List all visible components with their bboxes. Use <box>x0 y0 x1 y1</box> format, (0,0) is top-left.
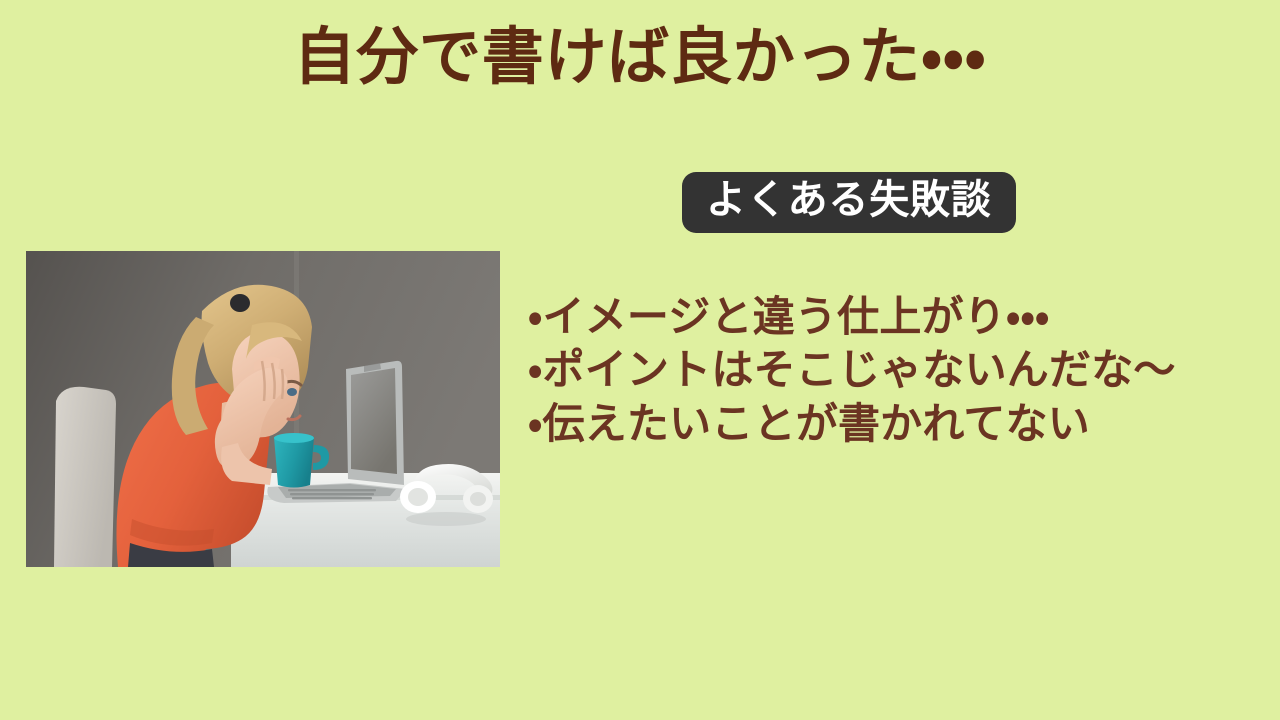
status-badge: よくある失敗談 <box>682 172 1016 233</box>
badge-container: よくある失敗談 <box>682 172 1016 233</box>
slide-canvas: 自分で書けば良かった・・・ よくある失敗談 <box>0 0 1280 720</box>
page-title: 自分で書けば良かった・・・ <box>0 24 1280 93</box>
bullet-list: ・イメージと違う仕上がり・・・ ・ポイントはそこじゃないんだな〜 ・伝えたいこと… <box>528 292 1268 452</box>
list-item: ・ポイントはそこじゃないんだな〜 <box>528 345 1268 398</box>
list-item: ・イメージと違う仕上がり・・・ <box>528 292 1268 345</box>
photo-illustration <box>26 251 500 567</box>
photo-frustrated-woman <box>26 251 500 567</box>
list-item: ・伝えたいことが書かれてない <box>528 399 1268 452</box>
